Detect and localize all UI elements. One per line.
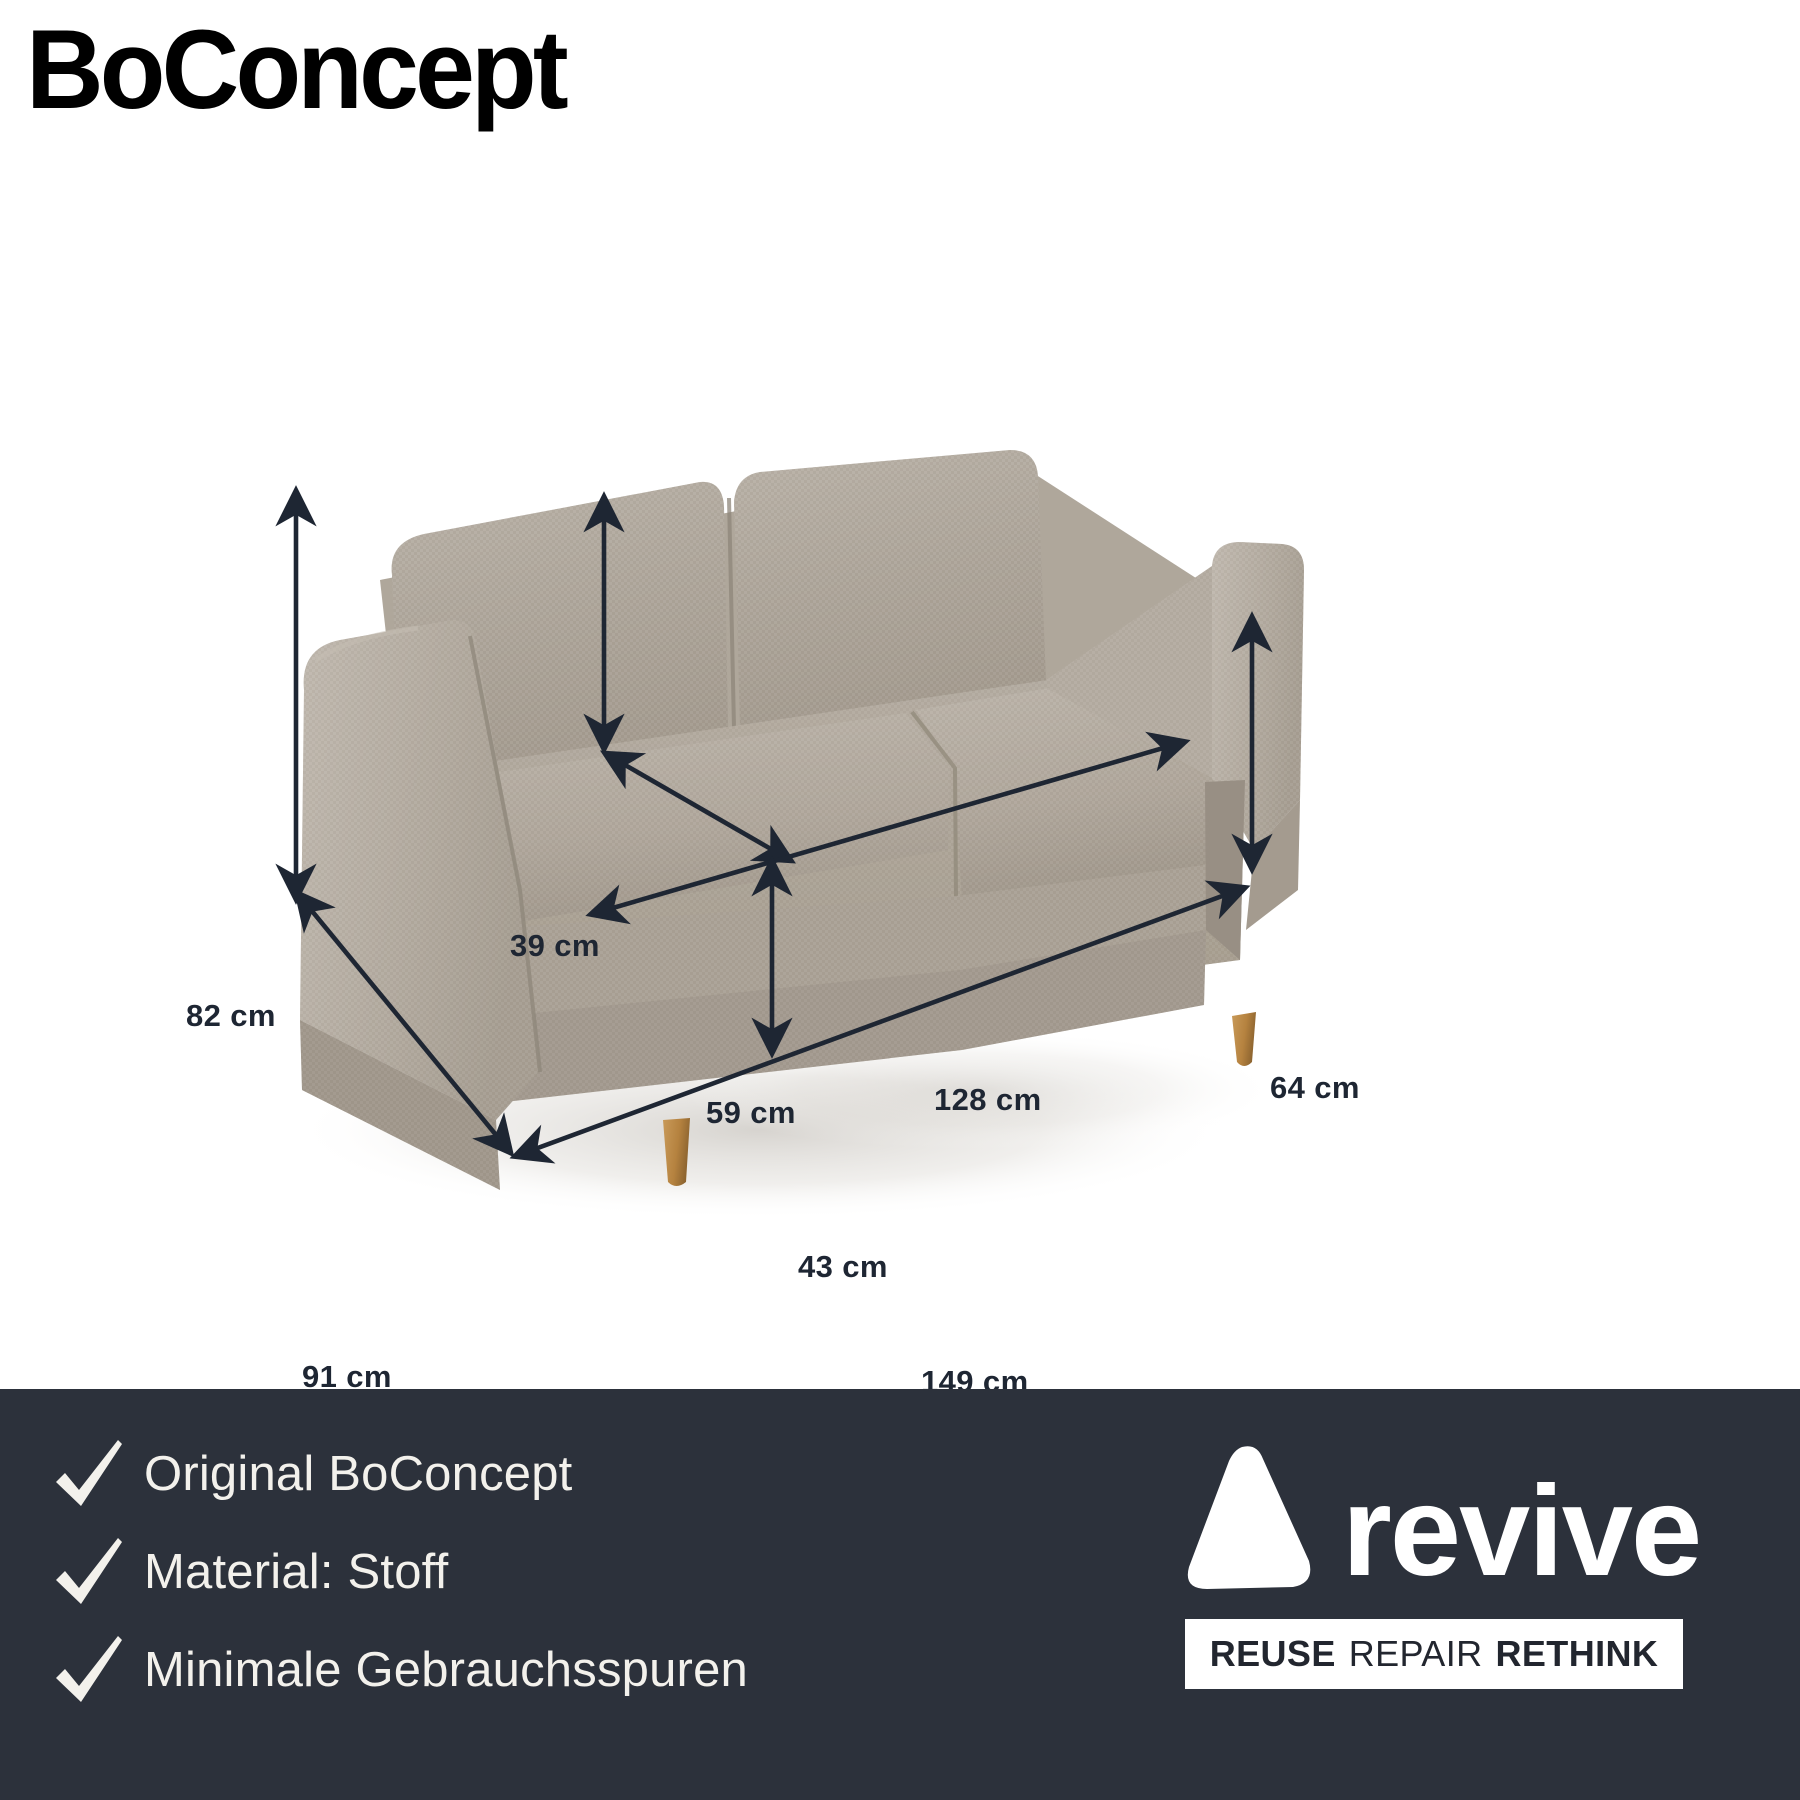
product-listing-image: BoConcept (0, 0, 1800, 1800)
feature-list: Original BoConcept Material: Stoff Minim… (40, 1425, 1020, 1719)
dimension-label-59cm: 59 cm (706, 1095, 796, 1131)
tagline-word-reuse: REUSE (1210, 1633, 1336, 1675)
revive-leaf-icon (1183, 1443, 1318, 1593)
tagline-word-repair: REPAIR (1349, 1633, 1483, 1675)
brand-logo: BoConcept (26, 14, 565, 126)
dimension-label-82cm: 82 cm (186, 998, 276, 1034)
tagline-word-rethink: RETHINK (1496, 1633, 1659, 1675)
sofa-illustration (0, 330, 1800, 1390)
revive-tagline: REUSE REPAIR RETHINK (1185, 1619, 1683, 1689)
product-image-with-dimensions: 82 cm 39 cm 59 cm 128 cm 64 cm 43 cm 149… (0, 330, 1800, 1390)
check-icon (40, 1534, 144, 1610)
feature-label: Minimale Gebrauchsspuren (144, 1642, 748, 1698)
check-icon (40, 1436, 144, 1512)
feature-item-material: Material: Stoff (40, 1523, 1020, 1621)
revive-logo-lockup: revive REUSE REPAIR RETHINK (1183, 1421, 1743, 1689)
dimension-label-43cm: 43 cm (798, 1249, 888, 1285)
check-icon (40, 1632, 144, 1708)
feature-item-original: Original BoConcept (40, 1425, 1020, 1523)
dimension-label-64cm: 64 cm (1270, 1070, 1360, 1106)
footer-banner: Original BoConcept Material: Stoff Minim… (0, 1389, 1800, 1800)
revive-wordmark: revive (1342, 1476, 1700, 1589)
feature-item-condition: Minimale Gebrauchsspuren (40, 1621, 1020, 1719)
dimension-label-39cm: 39 cm (510, 928, 600, 964)
feature-label: Material: Stoff (144, 1544, 448, 1600)
sofa-leg-front-right (1232, 1012, 1256, 1066)
feature-label: Original BoConcept (144, 1446, 573, 1502)
dimension-label-128cm: 128 cm (934, 1082, 1042, 1118)
